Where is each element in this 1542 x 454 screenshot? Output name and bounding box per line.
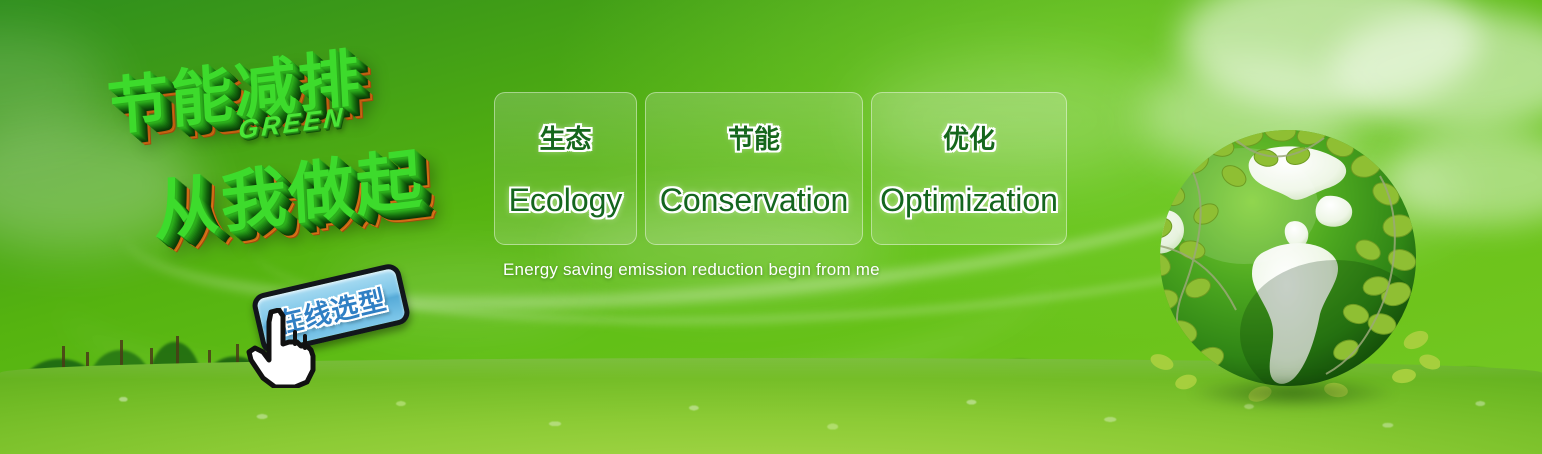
feature-box-optimization[interactable]: 优化 Optimization bbox=[871, 92, 1067, 245]
feature-box-list: 生态 Ecology 节能 Conservation 优化 Optimizati… bbox=[494, 92, 1067, 245]
headline-line-2: 从我做起 bbox=[150, 125, 425, 254]
feature-label-en: Conservation bbox=[660, 182, 849, 219]
leafy-earth-globe-icon bbox=[1140, 118, 1440, 428]
cloud-icon bbox=[0, 30, 110, 140]
cta-area: 在线选型 bbox=[255, 272, 425, 382]
globe-shadow bbox=[1148, 370, 1438, 416]
feature-label-en: Ecology bbox=[509, 182, 623, 219]
cloud-icon bbox=[1180, 0, 1480, 110]
feature-box-conservation[interactable]: 节能 Conservation bbox=[645, 92, 863, 245]
headline-artwork: 节能减排 GREEN 从我做起 bbox=[96, 36, 496, 276]
feature-label-cn: 生态 bbox=[539, 119, 591, 156]
cloud-icon bbox=[1330, 10, 1542, 130]
green-energy-banner: 节能减排 GREEN 从我做起 在线选型 生态 Ecology 节能 Conse… bbox=[0, 0, 1542, 454]
tagline-text: Energy saving emission reduction begin f… bbox=[503, 260, 880, 280]
feature-box-ecology[interactable]: 生态 Ecology bbox=[494, 92, 637, 245]
feature-label-cn: 优化 bbox=[943, 119, 995, 156]
feature-label-en: Optimization bbox=[880, 182, 1058, 219]
pointing-hand-cursor-icon bbox=[245, 308, 321, 388]
feature-label-cn: 节能 bbox=[728, 119, 780, 156]
